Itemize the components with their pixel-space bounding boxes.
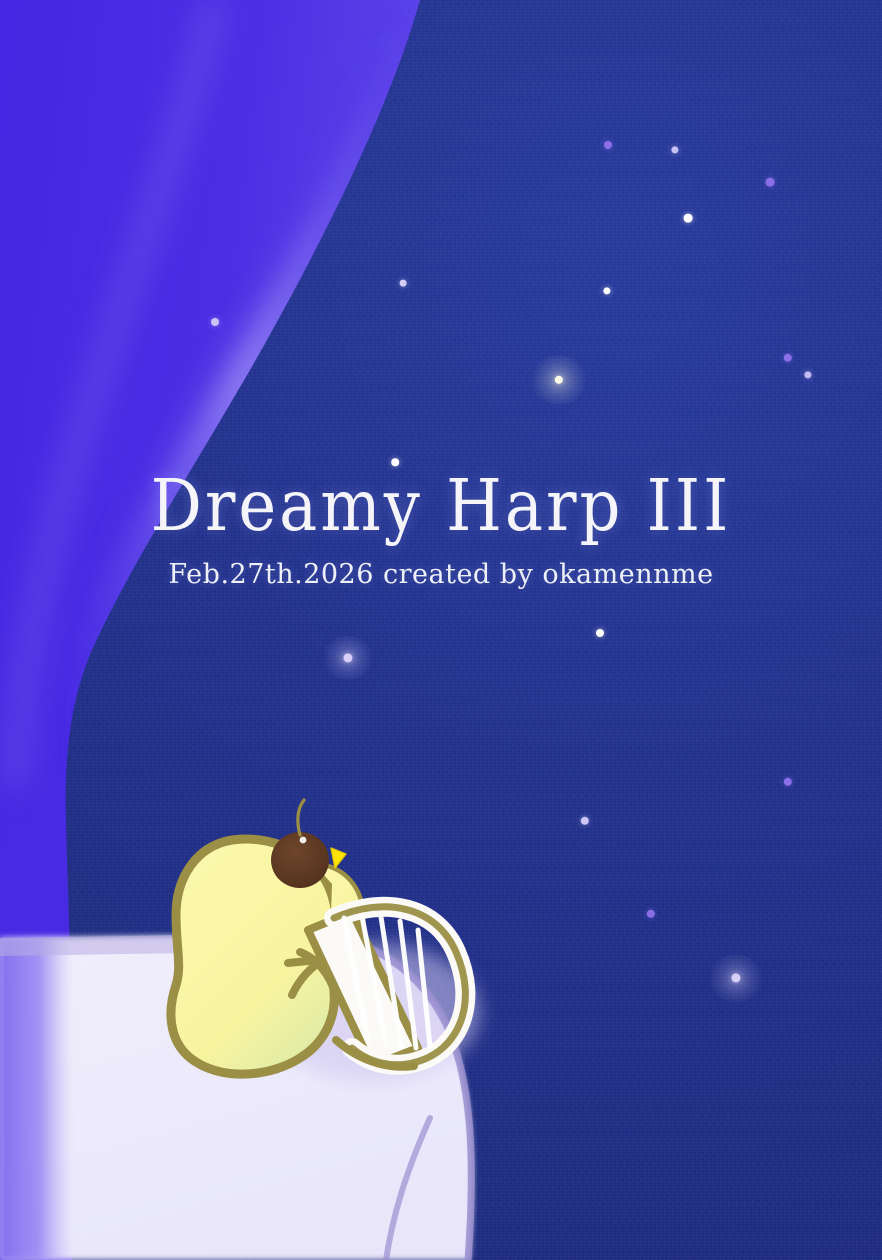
chick-antenna (298, 800, 304, 835)
chick-with-harp (0, 0, 882, 1260)
chick-beak (331, 848, 346, 868)
harp (308, 907, 465, 1067)
beret-highlight (300, 837, 307, 844)
chick-beret (271, 832, 329, 888)
artwork-canvas: Dreamy Harp III Feb.27th.2026 created by… (0, 0, 882, 1260)
